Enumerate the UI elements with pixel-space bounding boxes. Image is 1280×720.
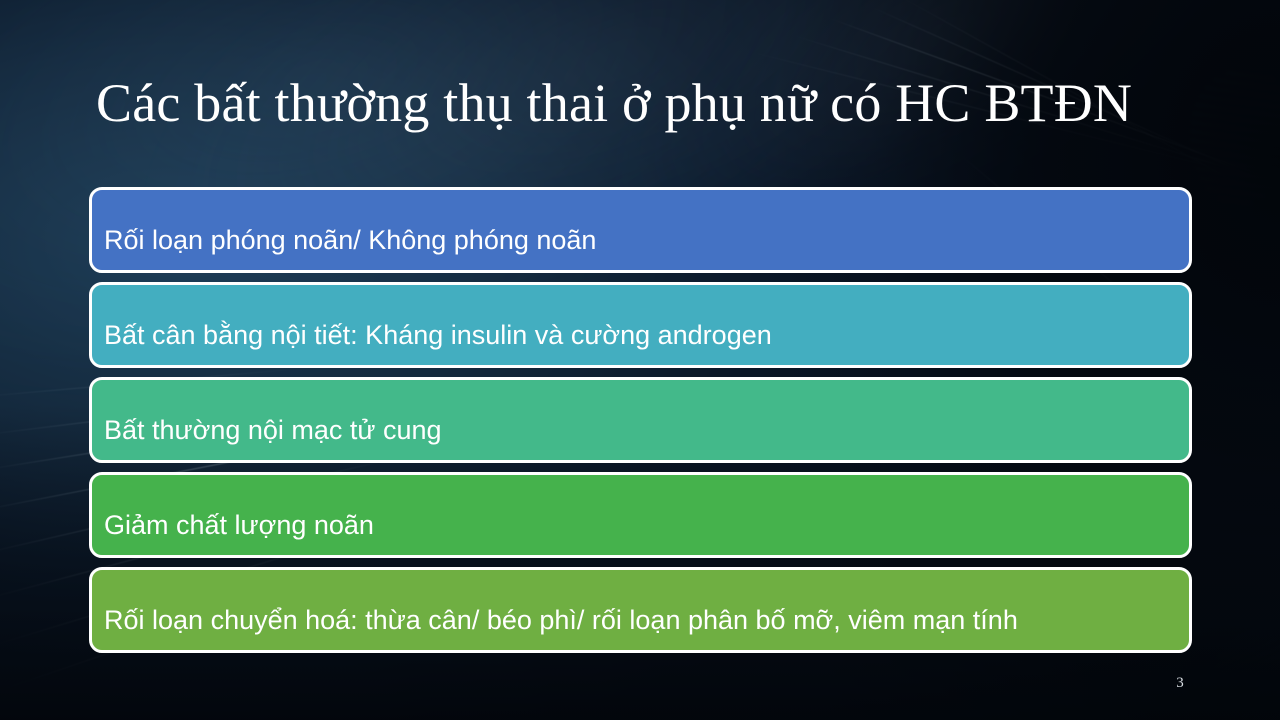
slide-number: 3 bbox=[1160, 675, 1200, 692]
list-item-label: Bất cân bằng nội tiết: Kháng insulin và … bbox=[92, 319, 1189, 365]
list-item-label: Bất thường nội mạc tử cung bbox=[92, 414, 1189, 460]
list-item-label: Rối loạn chuyển hoá: thừa cân/ béo phì/ … bbox=[92, 604, 1189, 650]
slide-title: Các bất thường thụ thai ở phụ nữ có HC B… bbox=[96, 72, 1186, 134]
list-item-label: Rối loạn phóng noãn/ Không phóng noãn bbox=[92, 224, 1189, 270]
list-item[interactable]: Bất cân bằng nội tiết: Kháng insulin và … bbox=[89, 282, 1192, 368]
list-item[interactable]: Giảm chất lượng noãn bbox=[89, 472, 1192, 558]
list-item[interactable]: Rối loạn phóng noãn/ Không phóng noãn bbox=[89, 187, 1192, 273]
presentation-slide: Các bất thường thụ thai ở phụ nữ có HC B… bbox=[0, 0, 1280, 720]
abnormality-list: Rối loạn phóng noãn/ Không phóng noãn Bấ… bbox=[89, 187, 1192, 653]
list-item[interactable]: Rối loạn chuyển hoá: thừa cân/ béo phì/ … bbox=[89, 567, 1192, 653]
list-item-label: Giảm chất lượng noãn bbox=[92, 509, 1189, 555]
list-item[interactable]: Bất thường nội mạc tử cung bbox=[89, 377, 1192, 463]
